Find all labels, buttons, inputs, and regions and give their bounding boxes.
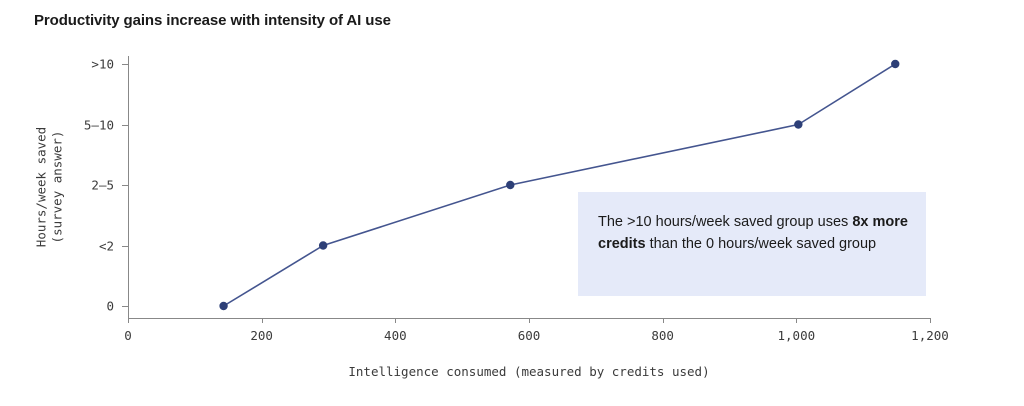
annotation-line-1: The >10 hours/week saved group uses	[598, 214, 848, 230]
data-point-marker	[219, 302, 227, 310]
x-axis-title: Intelligence consumed (measured by credi…	[348, 364, 709, 379]
annotation-callout-box: The >10 hours/week saved group uses 8x m…	[578, 192, 926, 296]
data-point-marker	[506, 181, 514, 189]
y-axis-title-line1: Hours/week saved	[33, 127, 48, 247]
data-point-marker	[891, 60, 899, 68]
annotation-line-3: saved group	[796, 236, 876, 252]
y-axis-title: Hours/week saved (survey answer)	[33, 127, 64, 247]
chart-figure: Productivity gains increase with intensi…	[0, 0, 1024, 406]
data-point-marker	[319, 241, 327, 249]
annotation-callout-text: The >10 hours/week saved group uses 8x m…	[598, 211, 910, 256]
y-axis-title-line2: (survey answer)	[49, 131, 64, 244]
annotation-line-2-rest: than the 0 hours/week	[646, 236, 793, 252]
data-point-marker	[794, 120, 802, 128]
